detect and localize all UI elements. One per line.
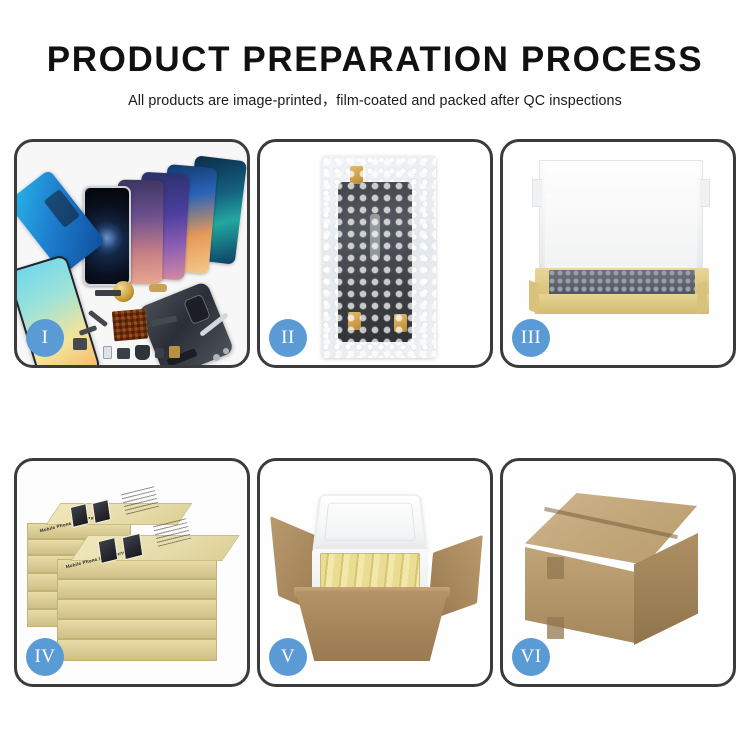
header: PRODUCT PREPARATION PROCESS All products… — [0, 0, 750, 110]
steps-grid: I II — [14, 139, 736, 695]
box-contents-bubble — [549, 270, 695, 296]
box-left-cap — [529, 280, 539, 314]
step-panel-iv[interactable]: Mobile Phone Spare Parts Mobile Phone Sp… — [14, 458, 250, 687]
screw-1 — [213, 354, 220, 361]
step-panel-iii[interactable]: III — [500, 139, 736, 368]
step-panel-v[interactable]: V — [257, 458, 493, 687]
part-gold-contact — [169, 346, 180, 358]
step-badge-iv: IV — [26, 638, 64, 676]
part-bracket-1 — [149, 284, 167, 292]
step-badge-iii: III — [512, 319, 550, 357]
box-foam-liner — [545, 194, 697, 272]
flex-cable-4 — [73, 338, 87, 350]
step-badge-vi: VI — [512, 638, 550, 676]
part-chip-1 — [117, 348, 130, 359]
stacked-box-f2 — [57, 579, 217, 599]
stacked-box-f3 — [57, 599, 217, 619]
carton-tape-lower — [547, 617, 564, 639]
box-window-front-2 — [122, 533, 144, 560]
box-front-panel — [535, 294, 709, 314]
step-panel-i[interactable]: I — [14, 139, 250, 368]
screw-2 — [223, 348, 229, 354]
carton-front-face — [525, 547, 635, 643]
connector-grid — [112, 309, 148, 342]
bubble-wrap-bag — [322, 156, 436, 358]
step-badge-i: I — [26, 319, 64, 357]
box-window-back-2 — [92, 499, 111, 524]
flex-cable-1 — [88, 310, 108, 327]
step-badge-ii: II — [269, 319, 307, 357]
gold-tab-bottom-right — [394, 314, 407, 332]
box-window-back-1 — [70, 503, 89, 528]
gold-tab-bottom-left — [348, 312, 361, 330]
box-window-front-1 — [98, 537, 119, 564]
stacked-box-f5 — [57, 639, 217, 661]
part-sim-tray — [103, 346, 112, 359]
step-panel-ii[interactable]: II — [257, 139, 493, 368]
page-subtitle: All products are image-printed，film-coat… — [0, 89, 750, 110]
part-chip-2 — [155, 348, 164, 358]
gold-tab-top — [350, 166, 363, 184]
step-panel-vi[interactable]: VI — [500, 458, 736, 687]
foam-box-lid — [312, 494, 428, 554]
part-strip-1 — [95, 290, 121, 296]
part-camera — [135, 345, 150, 360]
stacked-box-f4 — [57, 619, 217, 639]
product-preparation-infographic: PRODUCT PREPARATION PROCESS All products… — [0, 0, 750, 750]
step-badge-v: V — [269, 638, 307, 676]
page-title: PRODUCT PREPARATION PROCESS — [0, 42, 750, 79]
carton-body-open — [296, 591, 448, 661]
box-right-cap — [697, 280, 707, 314]
carton-tape-upper — [547, 557, 564, 579]
